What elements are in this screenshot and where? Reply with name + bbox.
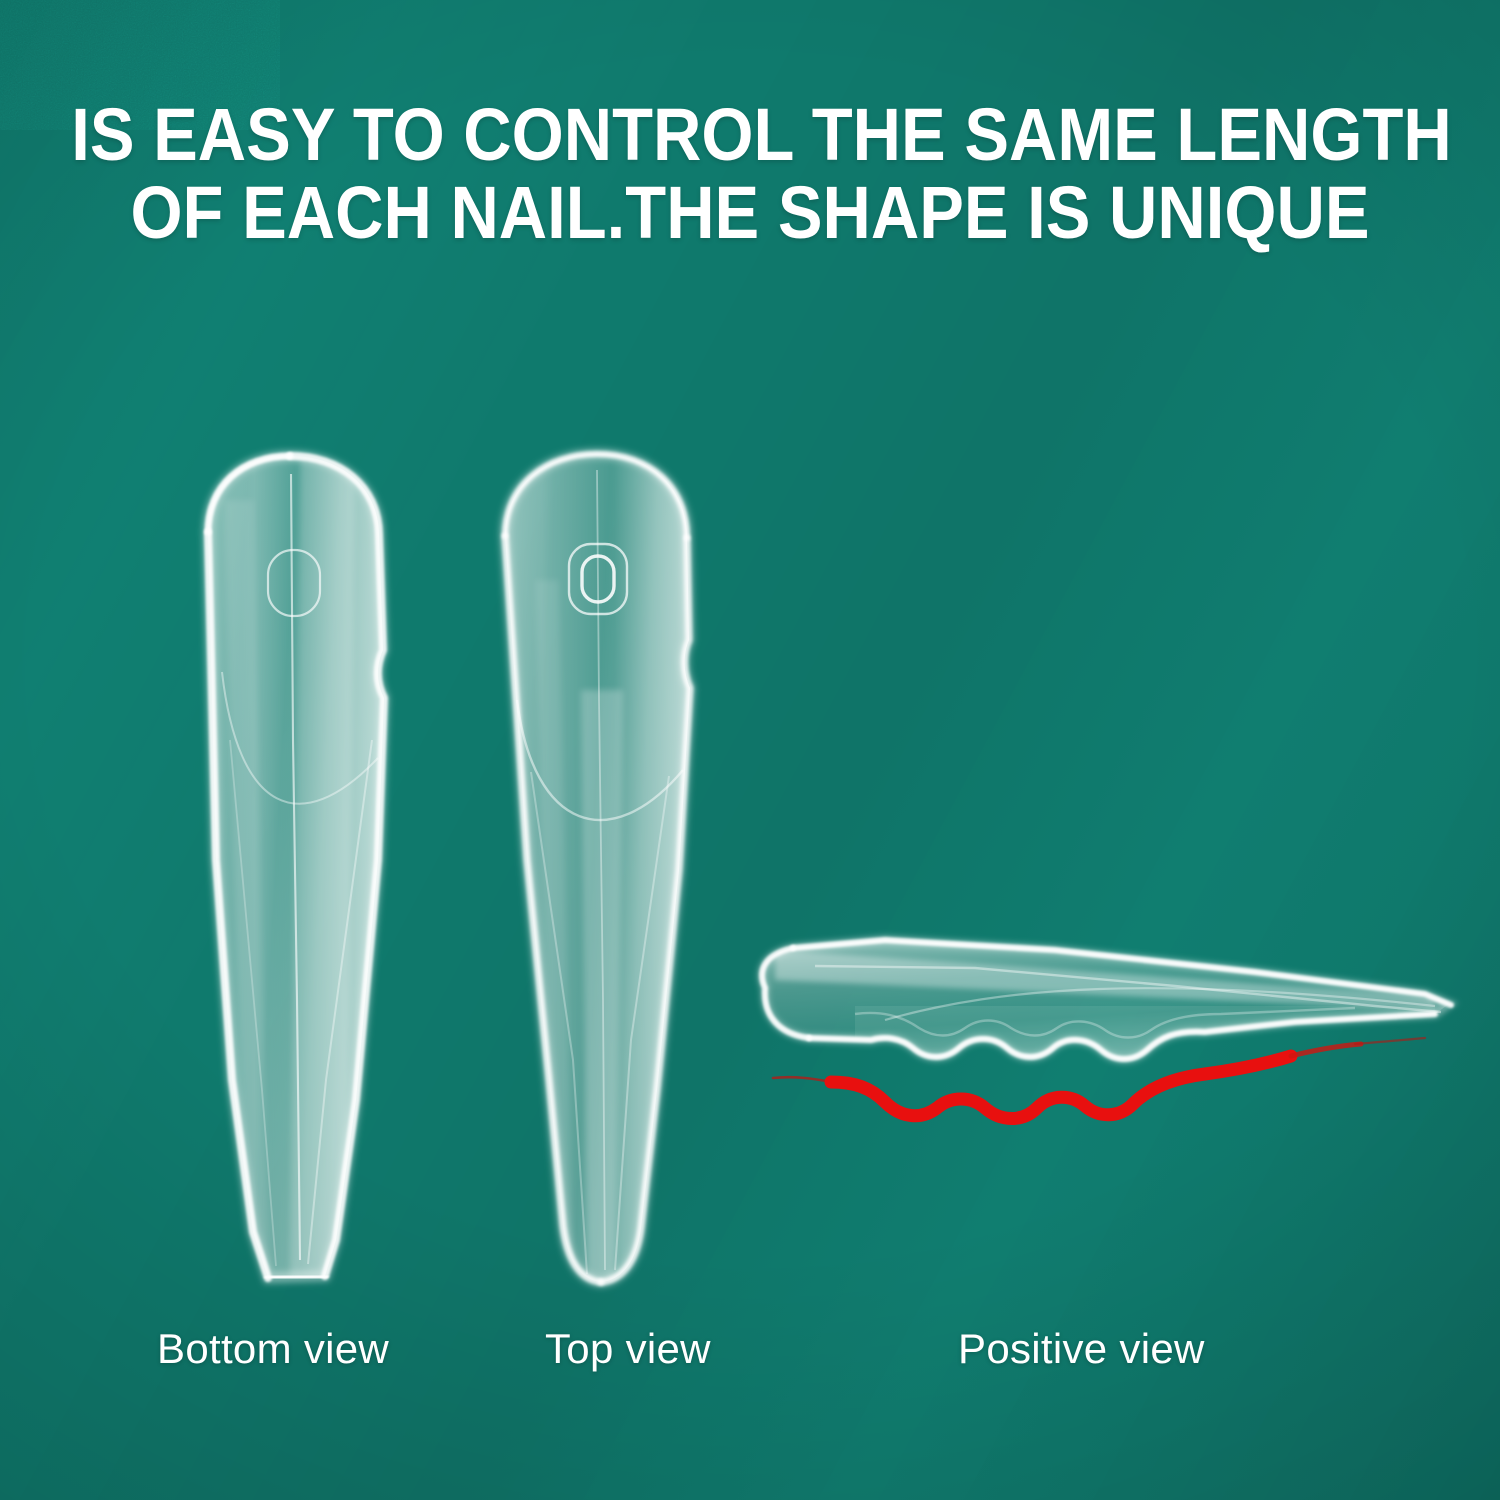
caption-top-view: Top view xyxy=(545,1325,711,1373)
nail-figure-bottom-view xyxy=(150,440,440,1300)
red-contour-tail-right xyxy=(1291,1044,1361,1056)
headline-line-1: IS EASY TO CONTROL THE SAME LENGTH xyxy=(71,96,1429,174)
red-contour-curve xyxy=(831,1056,1291,1119)
nail-figure-top-view xyxy=(455,440,745,1300)
red-contour-tail-right-thin xyxy=(1355,1038,1425,1044)
product-banner: IS EASY TO CONTROL THE SAME LENGTH OF EA… xyxy=(0,0,1500,1500)
red-contour-tail-left xyxy=(773,1077,831,1082)
caption-bottom-view: Bottom view xyxy=(157,1325,389,1373)
nail-figure-positive-view xyxy=(735,910,1475,1170)
caption-positive-view: Positive view xyxy=(958,1325,1205,1373)
nail-tip-edge xyxy=(268,1276,325,1278)
headline-line-2: OF EACH NAIL.THE SHAPE IS UNIQUE xyxy=(71,174,1429,252)
page-title: IS EASY TO CONTROL THE SAME LENGTH OF EA… xyxy=(0,96,1500,252)
